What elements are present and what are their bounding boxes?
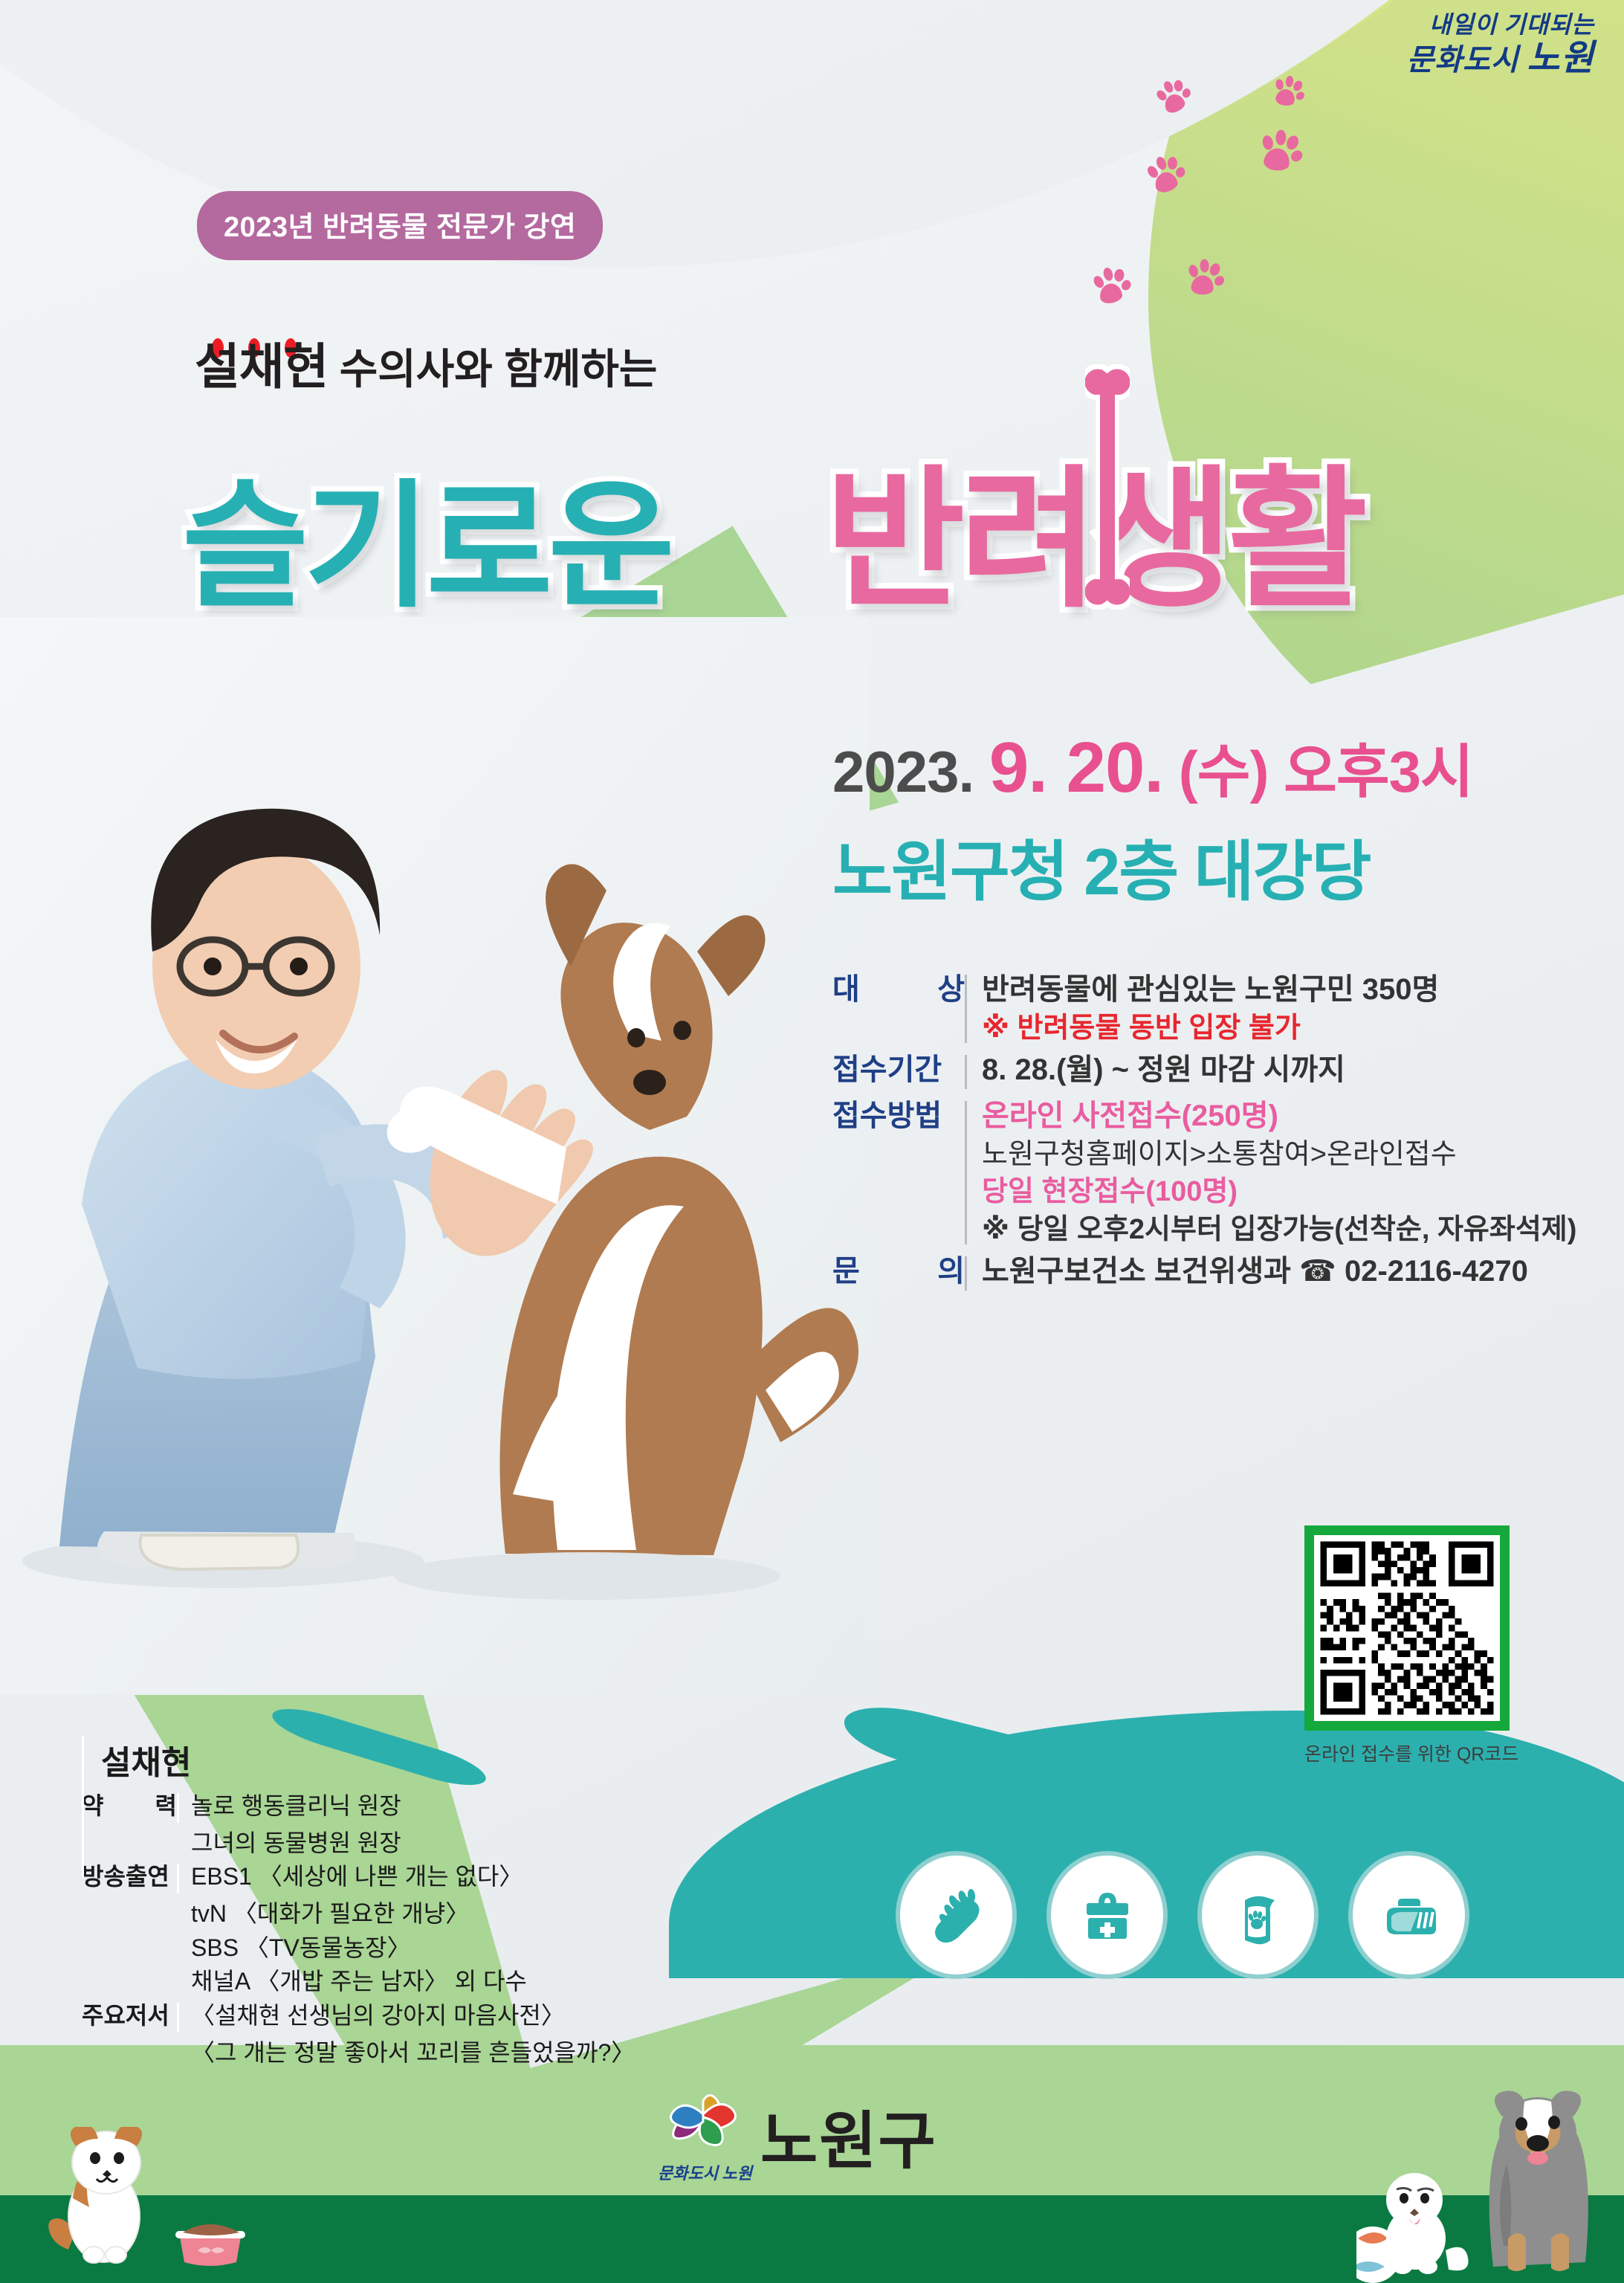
bio-row-books: 주요저서 〈설채현 선생님의 강아지 마음사전〉 — [82, 1999, 635, 2036]
paw-print-icon — [1144, 149, 1191, 198]
detail-note-onsite: 당일 현장접수(100명) — [982, 1173, 1576, 1211]
grooming-brush-icon — [922, 1881, 991, 1949]
bio-value: 〈설채현 선생님의 강아지 마음사전〉 — [191, 1999, 565, 2032]
speaker-bio-block: 설채현 약력 놀로 행동클리닉 원장 그녀의 동물병원 원장 방송출연 EBS1… — [82, 1736, 635, 2070]
detail-label: 문의 — [832, 1252, 965, 1291]
detail-value: 온라인 사전접수(250명) — [982, 1097, 1576, 1136]
bio-divider — [177, 1793, 179, 1823]
paw-print-icon — [881, 487, 913, 523]
puppy-and-bowl-illustration — [15, 2127, 253, 2283]
bio-speaker-name: 설채현 — [101, 1736, 635, 1783]
bio-row-career: 약력 놀로 행동클리닉 원장 — [82, 1789, 635, 1827]
detail-value: 8. 28.(월) ~ 정원 마감 시까지 — [982, 1050, 1345, 1090]
bio-label: 방송출연 — [82, 1860, 177, 1893]
bio-value-extra: tvN 〈대화가 필요한 개냥〉 — [191, 1897, 635, 1931]
bio-value: 놀로 행동클리닉 원장 — [191, 1789, 401, 1823]
detail-row-contact: 문의 노원구보건소 보건위생과 ☎ 02-2116-4270 — [832, 1252, 1583, 1295]
detail-row-period: 접수기간 8. 28.(월) ~ 정원 마감 시까지 — [832, 1050, 1583, 1094]
bio-value: EBS1 〈세상에 나쁜 개는 없다〉 — [191, 1860, 523, 1893]
detail-divider — [965, 1055, 967, 1089]
nowon-emblem-icon: 문화도시 노원 — [658, 2092, 748, 2181]
bio-value-extra: 채널A 〈개밥 주는 남자〉 외 다수 — [191, 1965, 635, 1998]
emblem-caption: 문화도시 노원 — [658, 2160, 748, 2184]
paw-print-icon — [1257, 123, 1309, 178]
event-venue: 노원구청 2층 대강당 — [832, 819, 1473, 914]
speaker-and-dog-photo — [0, 617, 870, 1695]
detail-divider — [965, 975, 967, 1043]
detail-note-path: 노원구청홈페이지>소통참여>온라인접수 — [982, 1136, 1576, 1174]
detail-label: 대상 — [832, 970, 965, 1010]
footer-logo-block: 문화도시 노원 노원구 — [658, 2091, 937, 2181]
bio-divider — [177, 1864, 179, 1893]
event-dayofweek-time: (수) 오후3시 — [1179, 739, 1473, 804]
detail-value: 노원구보건소 보건위생과 ☎ 02-2116-4270 — [982, 1252, 1528, 1291]
qr-code-frame[interactable] — [1304, 1525, 1510, 1731]
icon-oval-food — [1197, 1851, 1319, 1979]
qr-code-block[interactable]: 온라인 접수를 위한 QR코드 — [1304, 1525, 1518, 1766]
paw-print-icon — [1185, 254, 1229, 300]
paw-print-icon — [1270, 71, 1310, 113]
bone-icon — [1085, 364, 1130, 610]
bio-divider — [177, 2003, 179, 2032]
pet-service-icons — [896, 1851, 1469, 1979]
icon-oval-carrier — [1348, 1851, 1469, 1979]
qr-code-icon[interactable] — [1314, 1535, 1500, 1721]
detail-note: ※ 반려동물 동반 입장 불가 — [982, 1010, 1439, 1047]
detail-divider — [965, 1256, 967, 1291]
icon-oval-grooming — [896, 1851, 1017, 1979]
detail-row-audience: 대상 반려동물에 관심있는 노원구민 350명 ※ 반려동물 동반 입장 불가 — [832, 970, 1583, 1047]
detail-value: 반려동물에 관심있는 노원구민 350명 — [982, 970, 1439, 1010]
bio-value-extra: 〈그 개는 정말 좋아서 꼬리를 흔들었을까?〉 — [191, 2036, 635, 2070]
detail-label: 접수방법 — [832, 1097, 965, 1136]
paw-print-icon — [1091, 262, 1135, 309]
detail-note-entry: ※ 당일 오후2시부터 입장가능(선착순, 자유좌석제) — [982, 1211, 1576, 1249]
nowon-slogan: 내일이 기대되는 문화도시 노원 — [1282, 12, 1594, 79]
bio-accent-line — [82, 1736, 84, 1877]
district-name: 노원구 — [760, 2091, 937, 2181]
pet-food-bag-icon — [1224, 1881, 1293, 1949]
bio-label: 약력 — [82, 1789, 177, 1823]
bio-label: 주요저서 — [82, 1999, 177, 2032]
detail-value-group: 온라인 사전접수(250명) 노원구청홈페이지>소통참여>온라인접수 당일 현장… — [982, 1097, 1576, 1250]
bio-value-extra: SBS 〈TV동물농장〉 — [191, 1931, 635, 1965]
first-aid-kit-icon — [1073, 1881, 1142, 1949]
qr-code-caption: 온라인 접수를 위한 QR코드 — [1304, 1740, 1518, 1766]
dogs-and-ball-illustration — [1356, 2090, 1624, 2283]
slogan-line-1: 내일이 기대되는 — [1282, 12, 1594, 39]
title-part-teal: 슬기로운 — [182, 435, 670, 634]
subheadline: 설채현 수의사와 함께하는 — [195, 327, 657, 398]
event-category-badge: 2023년 반려동물 전문가 강연 — [197, 191, 603, 260]
event-month-day: 9. 20. — [989, 728, 1163, 807]
event-year: 2023. — [832, 739, 974, 804]
speaker-name-inline: 설채현 — [195, 339, 328, 394]
event-date-line: 2023. 9. 20. (수) 오후3시 — [832, 729, 1473, 807]
detail-label: 접수기간 — [832, 1050, 965, 1090]
event-details-block: 대상 반려동물에 관심있는 노원구민 350명 ※ 반려동물 동반 입장 불가 … — [832, 970, 1583, 1298]
detail-value-group: 반려동물에 관심있는 노원구민 350명 ※ 반려동물 동반 입장 불가 — [982, 970, 1439, 1047]
detail-divider — [965, 1101, 967, 1245]
event-datetime-block: 2023. 9. 20. (수) 오후3시 노원구청 2층 대강당 — [832, 729, 1473, 914]
poster-canvas: 내일이 기대되는 문화도시 노원 2023년 반려동물 전문가 강연 설채현 수… — [0, 0, 1624, 2283]
slogan-line-2: 문화도시 노원 — [1282, 39, 1594, 79]
icon-oval-medical — [1046, 1851, 1168, 1979]
bio-value-extra: 그녀의 동물병원 원장 — [191, 1827, 635, 1860]
detail-row-method: 접수방법 온라인 사전접수(250명) 노원구청홈페이지>소통참여>온라인접수 … — [832, 1097, 1583, 1250]
paw-print-icon — [1152, 71, 1197, 118]
pet-carrier-icon — [1375, 1881, 1443, 1949]
bio-row-broadcast: 방송출연 EBS1 〈세상에 나쁜 개는 없다〉 — [82, 1860, 635, 1897]
